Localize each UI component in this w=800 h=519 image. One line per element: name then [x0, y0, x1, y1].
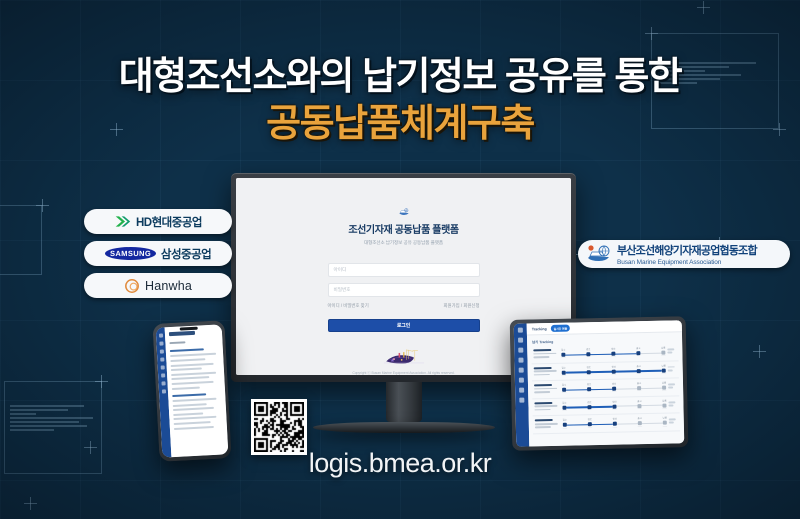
progress-node-label: 출고: [636, 346, 640, 350]
progress-node-date: ――: [562, 392, 566, 394]
tracking-row-list: 접수――검토――생산――출고――납품――접수――검토――생산――출고――납품――…: [527, 343, 684, 446]
progress-node-date: ――: [638, 426, 642, 428]
doc-icon[interactable]: [160, 365, 164, 369]
progress-node-label: 접수: [561, 348, 565, 352]
login-form: 아이디 비밀번호 아이디 / 비밀번호 찾기 회원가입 / 회원신청 로그인: [328, 263, 480, 332]
tracking-row-label: [533, 349, 559, 360]
shipyard-crane-illustration: [350, 346, 458, 365]
tracking-row-status: [669, 419, 678, 426]
progress-node-date: ――: [587, 374, 591, 376]
progress-node-label: 납품: [662, 398, 666, 402]
list-item[interactable]: [171, 368, 202, 372]
tablet-body: Tracking 실시간 현황 납기 Tracking 접수――검토――생산――…: [510, 316, 689, 451]
progress-node-label: 접수: [561, 366, 565, 370]
chart-icon[interactable]: [519, 368, 524, 373]
partner-logo-samsung: SAMSUNG 삼성중공업: [84, 241, 232, 266]
progress-node-date: ――: [637, 408, 641, 410]
status-badge: 실시간 현황: [551, 325, 571, 332]
progress-node-date: ――: [636, 355, 640, 357]
progress-node-label: 생산: [612, 400, 616, 404]
progress-node-date: ――: [562, 410, 566, 412]
find-credentials-link[interactable]: 아이디 / 비밀번호 찾기: [328, 303, 369, 309]
progress-node-label: 납품: [661, 363, 665, 367]
progress-node-label: 접수: [562, 383, 566, 387]
list-item[interactable]: [172, 386, 200, 389]
tracking-row-label: [534, 367, 560, 378]
blueprint-crosshair: [24, 497, 37, 510]
partner-logo-hd: HD현대중공업: [84, 209, 232, 234]
monitor-neck: [386, 382, 422, 422]
menu-icon[interactable]: [158, 333, 162, 337]
progress-node-date: ――: [612, 391, 616, 393]
progress-node-date: ――: [662, 373, 666, 375]
progress-node-date: ――: [612, 409, 616, 411]
progress-node-date: ――: [587, 392, 591, 394]
partner-logo-label: HD현대중공업: [136, 214, 202, 230]
progress-node-label: 접수: [562, 401, 566, 405]
tracking-row-status: [668, 384, 677, 391]
login-links: 아이디 / 비밀번호 찾기 회원가입 / 회원신청: [328, 303, 480, 309]
tablet-header-title: Tracking: [532, 327, 547, 331]
progress-node-label: 검토: [587, 383, 591, 387]
tablet-mockup: Tracking 실시간 현황 납기 Tracking 접수――검토――생산――…: [510, 316, 689, 451]
progress-node-label: 검토: [586, 365, 590, 369]
progress-node-label: 납품: [662, 416, 666, 420]
bell-icon[interactable]: [519, 388, 524, 393]
progress-track: 접수――검토――생산――출고――납품――: [565, 418, 665, 429]
progress-node-date: ――: [613, 426, 617, 428]
progress-node-label: 접수: [563, 418, 567, 422]
progress-node-label: 출고: [637, 381, 641, 385]
list-icon[interactable]: [159, 349, 163, 353]
tracking-row-label: [535, 419, 561, 430]
tablet-main: Tracking 실시간 현황 납기 Tracking 접수――검토――생산――…: [527, 320, 685, 446]
blueprint-crosshair: [697, 1, 710, 14]
home-icon[interactable]: [159, 341, 163, 345]
blueprint-crosshair: [753, 345, 766, 358]
progress-track: 접수――검토――생산――출고――납품――: [564, 382, 664, 393]
phone-content: [165, 324, 229, 457]
ship-brand-icon: [389, 208, 419, 216]
progress-node-label: 생산: [611, 347, 615, 351]
password-field[interactable]: 비밀번호: [328, 283, 480, 297]
hanwha-circle-icon: [124, 278, 140, 294]
signup-link[interactable]: 회원가입 / 회원신청: [444, 303, 480, 309]
progress-node-date: ――: [637, 391, 641, 393]
user-icon[interactable]: [161, 381, 165, 385]
progress-node-date: ――: [587, 409, 591, 411]
list-item[interactable]: [173, 403, 207, 407]
partner-logo-hanwha: Hanwha: [84, 273, 232, 298]
login-subtitle: 대형조선소 납기정보 공유 공동납품 플랫폼: [364, 240, 443, 246]
progress-node-date: ――: [611, 356, 615, 358]
site-url: logis.bmea.or.kr: [0, 448, 800, 479]
tracking-row-status: [668, 401, 677, 408]
progress-node-label: 납품: [662, 381, 666, 385]
tracking-row-status: [668, 366, 677, 373]
list-item[interactable]: [171, 372, 216, 376]
list-item[interactable]: [173, 416, 216, 420]
association-logo: 부산조선해양기자재공업협동조합 Busan Marine Equipment A…: [578, 240, 790, 268]
progress-node-date: ――: [561, 357, 565, 359]
gear-icon[interactable]: [161, 389, 165, 393]
progress-node-date: ――: [588, 427, 592, 429]
samsung-oval-icon: SAMSUNG: [105, 247, 156, 260]
headline-block: 대형조선소와의 납기정보 공유를 통한 공동납품체계구축: [0, 56, 800, 145]
progress-node-date: ――: [661, 355, 665, 357]
progress-node-label: 검토: [587, 400, 591, 404]
progress-track: 접수――검토――생산――출고――납품――: [563, 347, 663, 358]
login-copyright: Copyright ⓒ Busan Marine Equipment Assoc…: [352, 370, 454, 375]
gear-icon[interactable]: [519, 398, 524, 403]
list-item[interactable]: [171, 362, 214, 366]
progress-node-date: ――: [662, 390, 666, 392]
progress-track: 접수――검토――생산――출고――납품――: [564, 365, 664, 376]
home-icon[interactable]: [518, 338, 523, 343]
partner-logo-label: Hanwha: [145, 279, 192, 293]
progress-node-label: 납품: [661, 346, 665, 350]
list-item[interactable]: [174, 425, 214, 429]
list-item[interactable]: [170, 353, 216, 357]
progress-node-label: 출고: [636, 364, 640, 368]
progress-node-label: 출고: [637, 417, 641, 421]
list-item[interactable]: [170, 358, 205, 362]
list-item[interactable]: [172, 381, 214, 385]
headline-line-2: 공동납품체계구축: [0, 103, 800, 146]
progress-node-date: ――: [637, 373, 641, 375]
progress-node-label: 검토: [588, 418, 592, 422]
progress-node-label: 출고: [637, 399, 641, 403]
id-field[interactable]: 아이디: [328, 263, 480, 277]
blueprint-frame-left-mid: [0, 205, 42, 275]
hd-chevron-icon: [114, 215, 131, 228]
progress-node-label: 생산: [611, 364, 615, 368]
menu-icon[interactable]: [518, 328, 523, 333]
login-title: 조선기자재 공동납품 플랫폼: [348, 221, 458, 236]
qr-code[interactable]: [251, 399, 307, 455]
chart-icon[interactable]: [160, 357, 164, 361]
progress-node-date: ――: [563, 427, 567, 429]
phone-list-section-header: [170, 348, 204, 352]
tracking-row-label: [534, 384, 560, 395]
tracking-row-label: [534, 402, 560, 413]
id-field-placeholder: 아이디: [334, 267, 347, 273]
headline-line-1: 대형조선소와의 납기정보 공유를 통한: [0, 56, 800, 99]
bell-icon[interactable]: [161, 373, 165, 377]
partner-logo-label: 삼성중공업: [161, 246, 211, 262]
progress-node-label: 검토: [586, 347, 590, 351]
progress-node-date: ――: [662, 408, 666, 410]
list-item[interactable]: [174, 421, 211, 425]
tablet-screen: Tracking 실시간 현황 납기 Tracking 접수――검토――생산――…: [514, 320, 685, 446]
promotional-banner: 대형조선소와의 납기정보 공유를 통한 공동납품체계구축 HD현대중공업 SAM…: [0, 0, 800, 519]
progress-node-date: ――: [663, 425, 667, 427]
association-name-korean: 부산조선해양기자재공업협동조합: [617, 242, 757, 258]
phone-list-section-header: [172, 393, 206, 397]
qr-code-image: [254, 402, 304, 452]
list-item[interactable]: [173, 412, 203, 416]
list-icon[interactable]: [518, 348, 523, 353]
progress-node-date: ――: [612, 374, 616, 376]
progress-node-label: 생산: [613, 417, 617, 421]
ship-globe-icon: [586, 244, 612, 264]
list-item[interactable]: [172, 398, 216, 402]
monitor-base: [313, 422, 495, 433]
progress-track: 접수――검토――생산――출고――납품――: [564, 400, 664, 411]
phone-body: [152, 320, 231, 462]
progress-node-date: ――: [586, 357, 590, 359]
phone-screen-title: [169, 331, 195, 336]
list-item[interactable]: [171, 376, 209, 380]
truck-icon[interactable]: [518, 358, 523, 363]
phone-screen-subtitle: [169, 341, 185, 344]
table-row[interactable]: 접수――검토――생산――출고――납품――: [533, 414, 680, 435]
association-name-english: Busan Marine Equipment Association: [617, 259, 757, 266]
tracking-row-status: [667, 348, 676, 355]
password-field-placeholder: 비밀번호: [334, 287, 351, 293]
progress-node-label: 생산: [612, 382, 616, 386]
progress-node-date: ――: [562, 375, 566, 377]
mobile-phone-mockup: [152, 320, 231, 462]
doc-icon[interactable]: [519, 378, 524, 383]
phone-screen: [156, 324, 229, 457]
partner-logo-stack: HD현대중공업 SAMSUNG 삼성중공업 Hanwha: [84, 209, 232, 298]
list-item[interactable]: [173, 407, 214, 411]
login-submit-button[interactable]: 로그인: [328, 319, 480, 332]
